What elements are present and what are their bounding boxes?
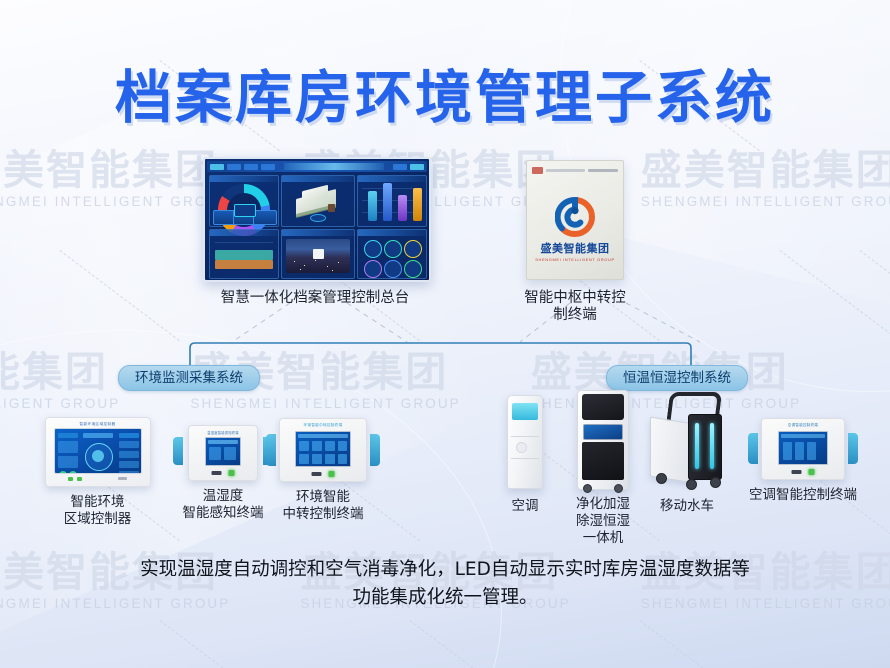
hub-top-strip [532,165,618,175]
company-logo: 盛美智能集团 SHENGMEI INTELLIGENT GROUP [527,197,623,262]
decorative-dash-line [59,250,179,341]
panel-pc-icon[interactable]: 智能环境区域控制器 [45,417,151,487]
panel-pc-indicators [46,476,150,484]
device-label: 智能环境 区域控制器 [30,494,165,528]
page-title: 档案库房环境管理子系统 [0,52,890,134]
device-env-relay-terminal[interactable]: 环境智能中转控制终端 环境智能 中转控制终端 [253,418,393,523]
box-indicators [792,469,815,475]
device-mobile-water-cart[interactable]: 移动水车 [640,392,734,515]
uv-lamp [695,423,699,469]
decorative-dash-line [159,620,279,668]
panel-pc-caption: 智能环境区域控制器 [46,422,150,427]
dashboard-header-bar [207,161,427,172]
footer-line-1: 实现温湿度自动调控和空气消毒净化，LED自动显示实时库房温湿度数据等 [0,556,890,584]
box-caption: 温湿度智能感知终端 [189,430,257,435]
hub-node-label: 智能中枢中转控制终端 [520,290,630,324]
console-node[interactable]: 智慧一体化档案管理控制总台 [203,157,427,307]
device-purifier-humidifier[interactable]: 净化加湿 除湿恒湿 一体机 [560,390,646,547]
wall-control-box-icon[interactable]: 环境智能中转控制终端 [273,418,373,482]
box-body: 空调智能控制终端 [761,418,845,480]
decorative-dash-line [859,250,890,341]
watermark: 盛美智能集团SHENGMEI INTELLIGENT GROUP [0,150,230,209]
wall-control-box-icon[interactable]: 空调智能控制终端 [755,418,851,480]
box-screen [778,431,828,465]
box-caption: 空调智能控制终端 [762,423,844,428]
box-screen [295,431,351,467]
cabinet-top-vent [582,394,624,420]
console-node-label: 智慧一体化档案管理控制总台 [203,290,427,307]
device-label: 净化加湿 除湿恒湿 一体机 [560,496,646,547]
box-wing-right [370,434,380,466]
box-caption: 环境智能中转控制终端 [280,423,366,428]
box-wing-left [748,433,758,464]
decorative-dash-line [639,620,759,668]
footer-line-2: 功能集成化统一管理。 [0,584,890,612]
mobile-cart-icon[interactable] [648,392,726,490]
panel-pc-screen [54,428,142,474]
group-tag-monitoring[interactable]: 环境监测采集系统 [118,365,260,391]
logo-text-cn: 盛美智能集团 [527,240,623,256]
device-label: 环境智能 中转控制终端 [253,489,393,523]
device-area-controller[interactable]: 智能环境区域控制器 智能环境 区域控制器 [30,417,165,528]
hub-node[interactable]: 盛美智能集团 SHENGMEI INTELLIGENT GROUP 智能中枢中转… [520,160,630,324]
device-label: 空调智能控制终端 [738,487,868,504]
watermark: 盛美智能集团SHENGMEI INTELLIGENT GROUP [0,352,120,411]
hub-terminal-icon[interactable]: 盛美智能集团 SHENGMEI INTELLIGENT GROUP [526,160,624,280]
cabinet-display [583,424,623,440]
dashboard-screen-icon[interactable] [203,157,431,282]
decorative-dash-line [779,250,890,341]
box-wing-right [848,433,858,464]
device-air-conditioner[interactable]: 空调 [490,395,560,515]
device-ac-smart-terminal[interactable]: 空调智能控制终端 空调智能控制终端 [738,418,868,504]
group-tag-climate[interactable]: 恒温恒湿控制系统 [606,365,748,391]
air-conditioner-icon[interactable] [507,395,543,489]
box-body: 温湿度智能感知终端 [188,425,258,481]
box-wing-left [266,434,276,466]
ac-vent [512,403,538,420]
box-wing-left [173,437,183,465]
device-label: 空调 [490,498,560,515]
device-label: 移动水车 [640,498,734,515]
cabinet-grill [582,442,624,480]
box-screen [205,437,241,466]
decorative-dash-line [409,620,529,668]
shengmei-logo-icon [555,197,595,237]
watermark: 盛美智能集团SHENGMEI INTELLIGENT GROUP [641,150,890,209]
box-indicators [212,470,235,476]
cart-front-panel [688,414,722,480]
purifier-cabinet-icon[interactable] [577,390,629,490]
box-indicators [312,471,335,477]
logo-text-en: SHENGMEI INTELLIGENT GROUP [527,257,623,262]
footer-caption: 实现温湿度自动调控和空气消毒净化，LED自动显示实时库房温湿度数据等 功能集成化… [0,556,890,612]
box-body: 环境智能中转控制终端 [279,418,367,482]
uv-lamp [710,423,714,469]
